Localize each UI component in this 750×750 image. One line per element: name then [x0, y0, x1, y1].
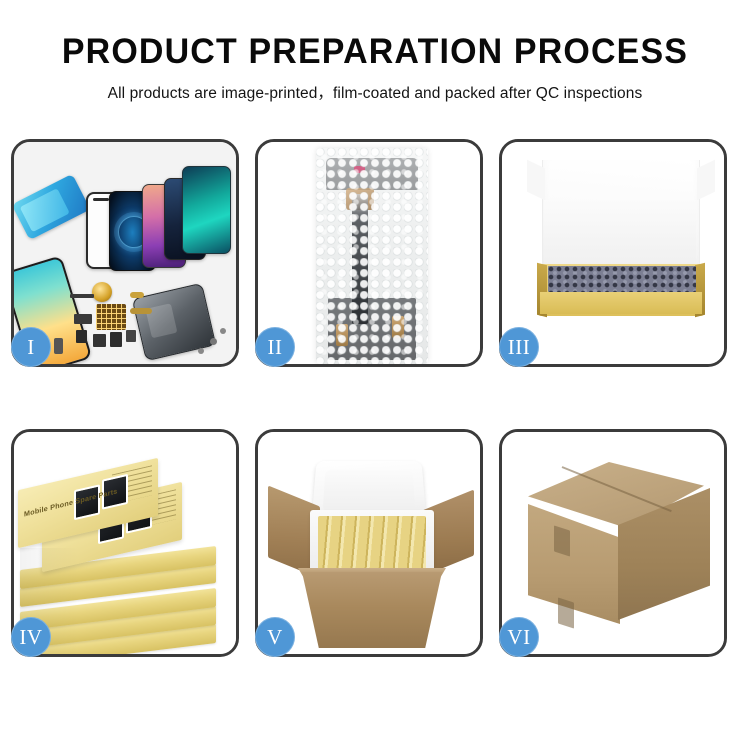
small-part-icon: [93, 334, 106, 347]
small-part-icon: [130, 292, 144, 298]
page-subtitle: All products are image-printed，film-coat…: [0, 81, 750, 103]
step-image-styrofoam-carton: [258, 432, 480, 654]
box-front-wall: [540, 292, 702, 314]
carton-body: [302, 572, 442, 648]
packed-yellow-boxes: [318, 516, 426, 570]
page-title: PRODUCT PREPARATION PROCESS: [11, 34, 739, 71]
step-panel-i: I: [11, 139, 239, 367]
step-image-bubble-wrap-packing: [258, 142, 480, 364]
screw-part-icon: [220, 328, 226, 334]
carton-tape-mark: [554, 525, 570, 556]
step-panel-ii: II: [255, 139, 483, 367]
step-panel-vi: VI: [499, 429, 727, 657]
step-badge-iv: IV: [11, 617, 51, 657]
step-badge-ii: II: [255, 327, 295, 367]
small-part-icon: [126, 330, 136, 342]
phone-blue-frame-icon: [14, 174, 90, 241]
step-image-sealed-shipping-carton: [502, 432, 724, 654]
process-steps-grid: I II III: [11, 139, 739, 657]
page-header: PRODUCT PREPARATION PROCESS All products…: [0, 0, 750, 103]
carton-tape-mark: [558, 597, 574, 628]
bubble-wrap-bag: [316, 148, 428, 364]
small-part-icon: [110, 332, 122, 347]
carton-left-face: [528, 504, 620, 624]
small-part-icon: [130, 308, 152, 314]
screw-part-icon: [198, 348, 204, 354]
small-part-icon: [54, 338, 63, 354]
step-panel-iii: III: [499, 139, 727, 367]
step-badge-v: V: [255, 617, 295, 657]
small-part-icon: [76, 330, 87, 343]
gold-coil-part-icon: [92, 282, 112, 302]
small-part-icon: [74, 314, 92, 324]
small-part-icon: [70, 294, 94, 298]
step-image-labeled-boxes-stack: Mobile Phone Spare Parts Mobile Phone Sp…: [14, 432, 236, 654]
phone-teal-swirl-icon: [182, 166, 231, 254]
bubble-highlight-texture: [316, 148, 428, 364]
box-stack: Mobile Phone Spare Parts Mobile Phone Sp…: [14, 432, 236, 654]
step-panel-v: V: [255, 429, 483, 657]
step-image-inner-box-foam: [502, 142, 724, 364]
step-badge-vi: VI: [499, 617, 539, 657]
step-panel-iv: Mobile Phone Spare Parts Mobile Phone Sp…: [11, 429, 239, 657]
white-foam-lining: [544, 200, 696, 266]
step-badge-iii: III: [499, 327, 539, 367]
step-badge-i: I: [11, 327, 51, 367]
step-image-raw-products: [14, 142, 236, 364]
grey-foam-padding: [548, 266, 696, 292]
screw-part-icon: [210, 338, 217, 345]
chip-grid-part-icon: [96, 304, 126, 330]
